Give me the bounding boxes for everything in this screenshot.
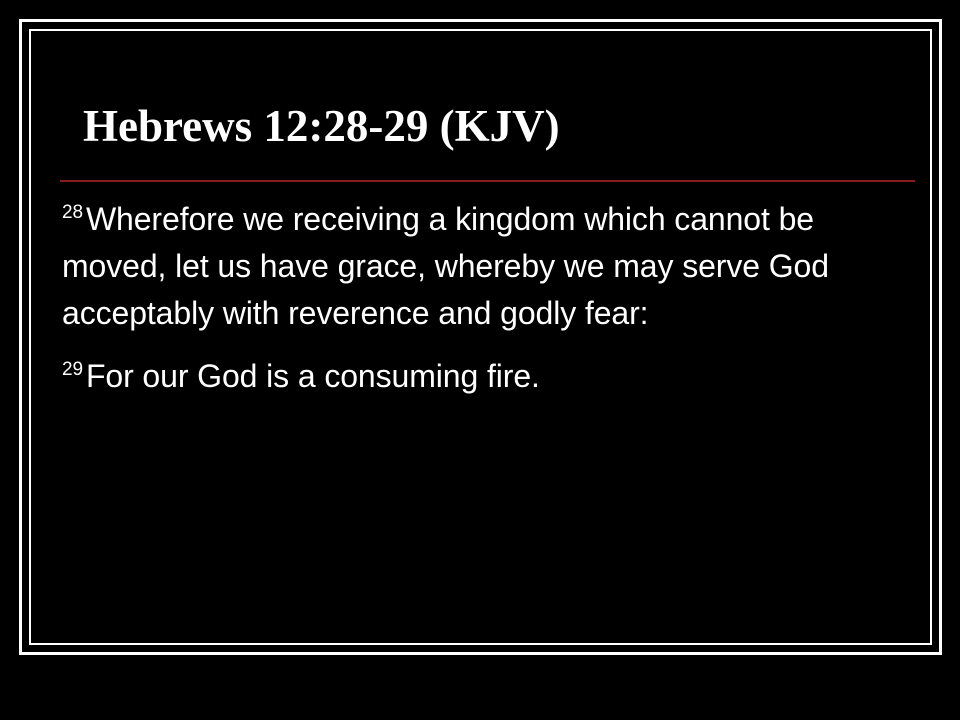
verse-text: For our God is a consuming fire. (86, 358, 540, 394)
slide-content: Hebrews 12:28-29 (KJV) 28Wherefore we re… (0, 0, 960, 720)
verse-text: Wherefore we receiving a kingdom which c… (62, 201, 829, 331)
verse-paragraph: 28Wherefore we receiving a kingdom which… (62, 196, 892, 337)
presentation-slide: Hebrews 12:28-29 (KJV) 28Wherefore we re… (0, 0, 960, 720)
verse-number: 29 (62, 359, 86, 380)
verse-paragraph: 29For our God is a consuming fire. (62, 353, 892, 400)
title-divider-rule (60, 180, 915, 182)
verse-number: 28 (62, 202, 86, 223)
scripture-body: 28Wherefore we receiving a kingdom which… (62, 196, 892, 400)
slide-title: Hebrews 12:28-29 (KJV) (83, 98, 883, 154)
